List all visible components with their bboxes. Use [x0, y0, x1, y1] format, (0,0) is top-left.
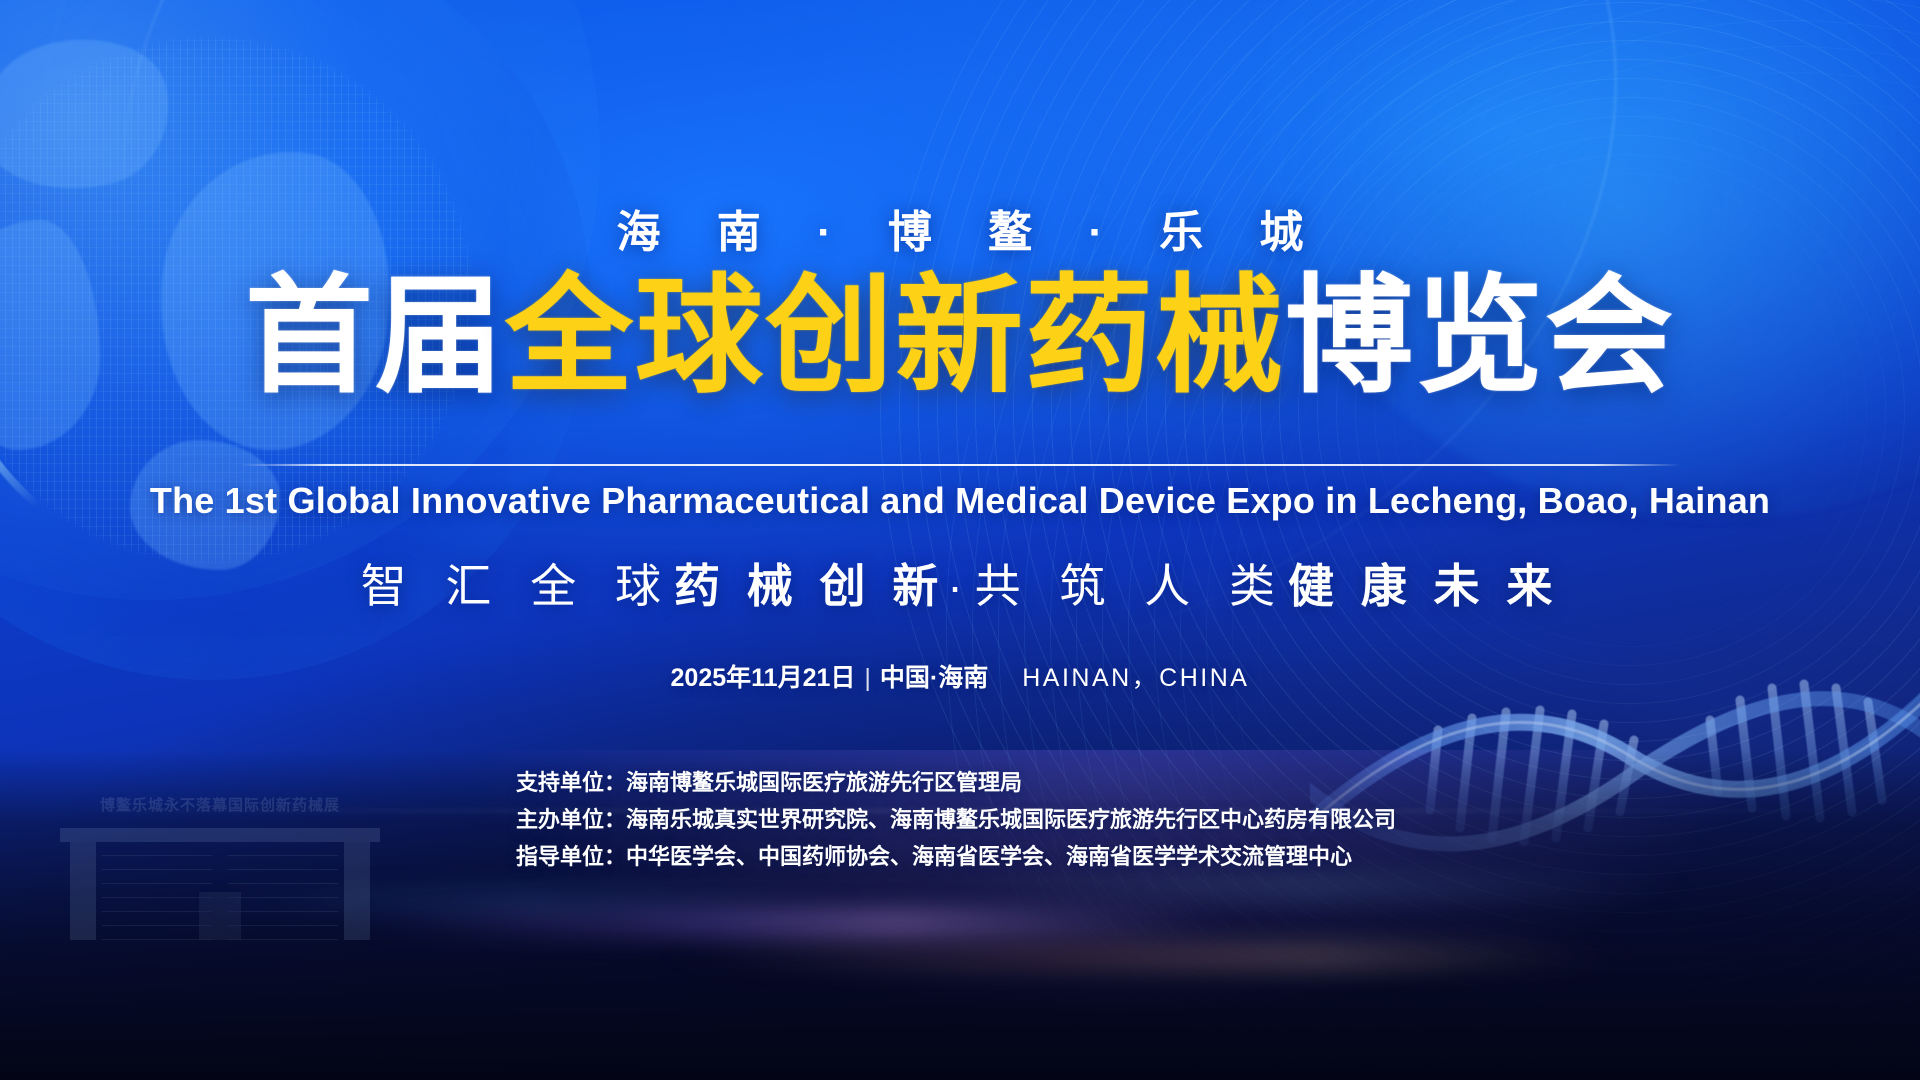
dateline-separator: | — [855, 664, 880, 692]
event-dateline: 2025年11月21日|中国·海南HAINAN，CHINA — [0, 658, 1920, 694]
english-title: The 1st Global Innovative Pharmaceutical… — [0, 480, 1920, 522]
organizer-value: 中华医学会、中国药师协会、海南省医学会、海南省医学学术交流管理中心 — [626, 844, 1352, 869]
organizer-label: 主办单位： — [516, 807, 626, 832]
expo-poster: 博鳌乐城永不落幕国际创新药械展 海 南 · 博 鳌 · 乐 城 首届全球创新药械… — [0, 0, 1920, 1080]
slogan-segment-2: 药 械 创 新 — [674, 560, 945, 612]
organizer-value: 海南博鳌乐城国际医疗旅游先行区管理局 — [626, 770, 1022, 795]
slogan: 智 汇 全 球药 械 创 新·共 筑 人 类健 康 未 来 — [0, 550, 1920, 616]
slogan-segment-4: 健 康 未 来 — [1288, 560, 1559, 612]
organizer-label: 指导单位： — [516, 844, 626, 869]
slogan-segment-3: 共 筑 人 类 — [975, 560, 1288, 612]
slogan-segment-1: 智 汇 全 球 — [361, 560, 674, 612]
event-location-en: HAINAN，CHINA — [988, 664, 1249, 692]
event-location-cn: 中国·海南 — [880, 664, 988, 692]
slogan-separator: · — [945, 560, 974, 612]
headline-part-last: 博览会 — [1285, 262, 1675, 411]
organizer-label: 支持单位： — [516, 770, 626, 795]
organizer-row: 支持单位：海南博鳌乐城国际医疗旅游先行区管理局 — [516, 764, 1396, 801]
organizer-row: 主办单位：海南乐城真实世界研究院、海南博鳌乐城国际医疗旅游先行区中心药房有限公司 — [516, 801, 1396, 838]
headline-part-highlight: 全球创新药械 — [505, 262, 1285, 411]
organizer-row: 指导单位：中华医学会、中国药师协会、海南省医学会、海南省医学学术交流管理中心 — [516, 838, 1396, 875]
title-divider — [240, 464, 1680, 466]
organizer-list: 支持单位：海南博鳌乐城国际医疗旅游先行区管理局 主办单位：海南乐城真实世界研究院… — [516, 764, 1396, 875]
page-title: 首届全球创新药械博览会 — [0, 272, 1920, 403]
eyebrow-location: 海 南 · 博 鳌 · 乐 城 — [0, 196, 1920, 260]
organizer-value: 海南乐城真实世界研究院、海南博鳌乐城国际医疗旅游先行区中心药房有限公司 — [626, 807, 1396, 832]
headline-part-first: 首届 — [245, 262, 505, 411]
poster-content: 海 南 · 博 鳌 · 乐 城 首届全球创新药械博览会 The 1st Glob… — [0, 0, 1920, 1080]
event-date: 2025年11月21日 — [671, 664, 856, 692]
